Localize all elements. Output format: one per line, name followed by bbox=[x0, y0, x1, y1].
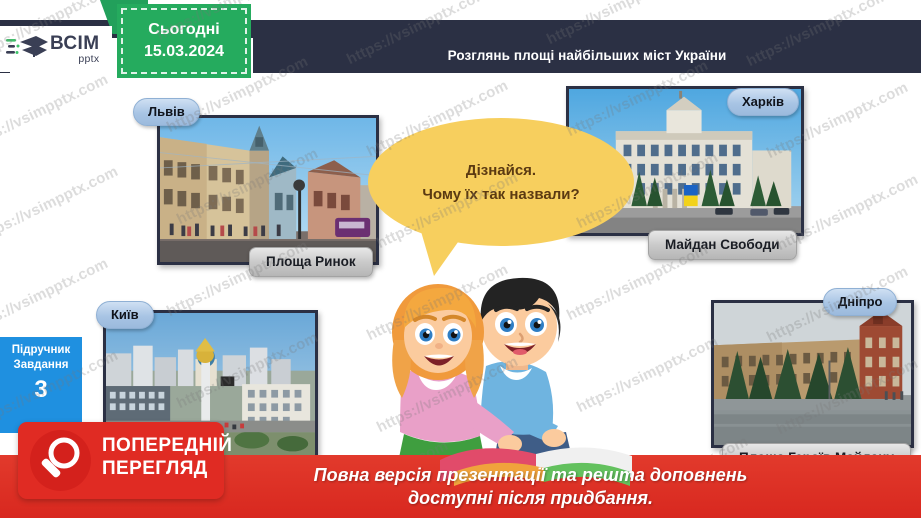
preview-word-1: ПОПЕРЕДНІЙ bbox=[102, 436, 232, 457]
city-label-kharkiv: Харків bbox=[742, 94, 784, 109]
page-title: Розглянь площі найбільших міст України bbox=[448, 48, 727, 63]
graduation-cap-svg bbox=[6, 32, 48, 66]
task-badge-number: 3 bbox=[34, 376, 47, 404]
brand-suffix: pptx bbox=[50, 54, 99, 65]
speech-bubble-line2: Чому їх так назвали? bbox=[422, 186, 579, 203]
date-badge-value: 15.03.2024 bbox=[144, 43, 224, 61]
slide-header-band: Розглянь площі найбільших міст України bbox=[253, 38, 921, 73]
city-label-dnipro: Дніпро bbox=[838, 294, 882, 309]
square-plate-kharkiv: Майдан Свободи bbox=[648, 230, 797, 260]
task-badge-line1: Підручник bbox=[12, 344, 70, 356]
date-badge: Сьогодні 15.03.2024 bbox=[117, 4, 251, 78]
brand-logo[interactable]: ВСІМ pptx bbox=[0, 26, 112, 72]
purchase-notice-line1: Повна версія презентації та решта доповн… bbox=[314, 465, 748, 486]
city-pill-dnipro: Дніпро bbox=[823, 288, 897, 316]
date-badge-label: Сьогодні bbox=[148, 21, 219, 39]
city-pill-kharkiv: Харків bbox=[727, 88, 799, 116]
city-pill-lviv: Львів bbox=[133, 98, 200, 126]
speech-bubble: Дізнайся. Чому їх так назвали? bbox=[368, 118, 634, 246]
dnipro-photo bbox=[711, 300, 914, 448]
brand-name: ВСІМ bbox=[50, 34, 99, 53]
presentation-slide: Львів Площа Ринок bbox=[0, 0, 921, 518]
city-label-kyiv: Київ bbox=[111, 307, 139, 322]
city-pill-kyiv: Київ bbox=[96, 301, 154, 329]
lviv-photo-svg bbox=[160, 118, 376, 262]
dnipro-photo-svg bbox=[714, 303, 911, 445]
purchase-notice-text: Повна версія презентації та решта доповн… bbox=[0, 455, 921, 518]
square-label-kharkiv: Майдан Свободи bbox=[665, 237, 780, 252]
task-badge-line2: Завдання bbox=[14, 359, 69, 371]
task-badge: Підручник Завдання 3 bbox=[0, 337, 82, 433]
lviv-photo bbox=[157, 115, 379, 265]
speech-bubble-line1: Дізнайся. bbox=[466, 162, 536, 179]
graduation-cap-icon bbox=[6, 32, 48, 66]
purchase-notice-line2: доступні після придбання. bbox=[408, 488, 653, 509]
square-plate-lviv: Площа Ринок bbox=[249, 247, 373, 277]
brand-logo-text: ВСІМ pptx bbox=[50, 34, 99, 65]
city-label-lviv: Львів bbox=[148, 104, 185, 119]
square-label-lviv: Площа Ринок bbox=[266, 254, 356, 269]
